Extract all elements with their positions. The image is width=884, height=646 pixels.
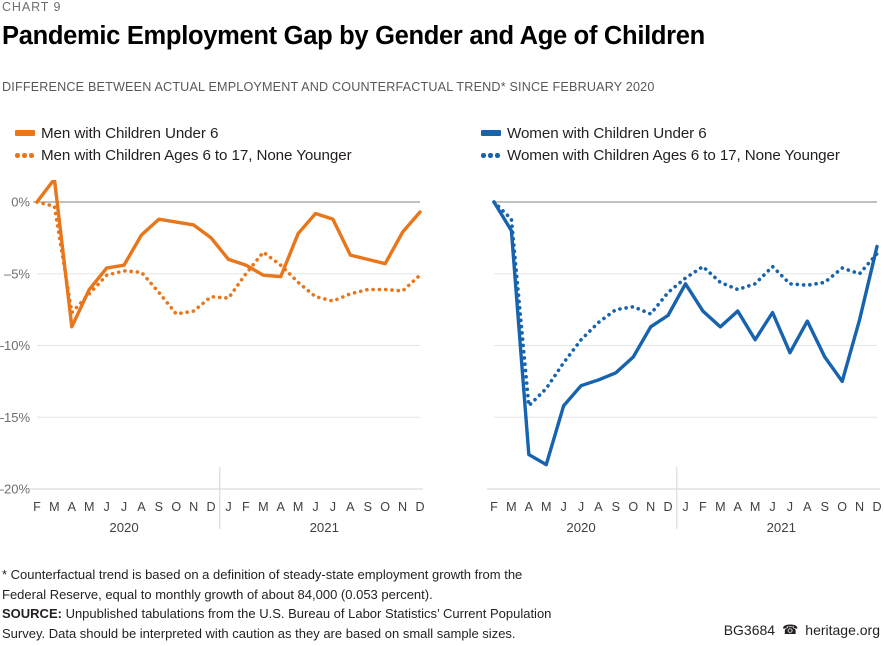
y-axis-tick-label: –5% (4, 266, 30, 281)
x-axis-year-label: 2021 (310, 520, 339, 535)
legend-label: Men with Children Under 6 (41, 125, 218, 142)
heritage-logo-icon: ☎ (782, 622, 798, 638)
y-axis-tick-label: –10% (0, 338, 30, 353)
x-axis-tick-label: J (225, 500, 231, 514)
x-axis-year-label: 2020 (566, 520, 595, 535)
x-axis-tick-label: J (769, 500, 775, 514)
chart-subtitle: DIFFERENCE BETWEEN ACTUAL EMPLOYMENT AND… (2, 80, 655, 94)
credit-block: BG3684 ☎ heritage.org (724, 622, 880, 638)
x-axis-tick-label: S (612, 500, 620, 514)
x-axis-tick-label: M (293, 500, 304, 514)
x-axis-tick-label: D (664, 500, 673, 514)
x-axis-tick-label: M (258, 500, 269, 514)
x-axis-tick-label: O (628, 500, 638, 514)
y-axis-tick-label: –20% (0, 482, 30, 497)
x-axis-tick-label: A (137, 500, 146, 514)
x-axis-tick-label: J (312, 500, 318, 514)
legend-swatch-dotted-orange-icon (14, 144, 36, 166)
series-line (494, 202, 877, 465)
x-axis-tick-label: N (398, 500, 407, 514)
source-text: Unpublished tabulations from the U.S. Bu… (62, 606, 551, 621)
x-axis-tick-label: A (734, 500, 743, 514)
x-axis-tick-label: F (242, 500, 250, 514)
footnote-line-1: * Counterfactual trend is based on a def… (2, 565, 642, 585)
x-axis-year-label: 2021 (767, 520, 796, 535)
legend-column-men: Men with Children Under 6 Men with Child… (14, 122, 444, 166)
x-axis-tick-label: S (155, 500, 163, 514)
legend-item-men-under-6: Men with Children Under 6 (14, 122, 444, 144)
footnotes: * Counterfactual trend is based on a def… (2, 565, 642, 643)
series-line (494, 202, 877, 406)
x-axis-year-label: 2020 (109, 520, 138, 535)
y-axis-tick-label: –15% (0, 410, 30, 425)
x-axis-tick-label: M (541, 500, 552, 514)
x-axis-tick-label: O (380, 500, 390, 514)
x-axis-tick-label: O (171, 500, 181, 514)
x-axis-tick-label: A (68, 500, 77, 514)
x-axis-tick-label: A (594, 500, 603, 514)
legend-item-women-6-to-17: Women with Children Ages 6 to 17, None Y… (480, 144, 884, 166)
x-axis-tick-label: F (699, 500, 707, 514)
y-axis-tick-label: 0% (11, 195, 30, 210)
x-axis-tick-label: O (837, 500, 847, 514)
x-axis-tick-label: A (525, 500, 534, 514)
x-axis-tick-label: A (803, 500, 812, 514)
legend-swatch-solid-blue-icon (480, 122, 502, 144)
x-axis-tick-label: S (821, 500, 829, 514)
x-axis-tick-label: D (207, 500, 216, 514)
legend-item-women-under-6: Women with Children Under 6 (480, 122, 884, 144)
x-axis-tick-label: J (787, 500, 793, 514)
x-axis-tick-label: S (364, 500, 372, 514)
legend-column-women: Women with Children Under 6 Women with C… (480, 122, 884, 166)
x-axis-tick-label: J (682, 500, 688, 514)
credit-site: heritage.org (805, 622, 880, 638)
legend-label: Men with Children Ages 6 to 17, None You… (41, 147, 352, 164)
x-axis-tick-label: D (872, 500, 881, 514)
x-axis-tick-label: M (49, 500, 60, 514)
x-axis-tick-label: N (189, 500, 198, 514)
x-axis-tick-label: J (103, 500, 109, 514)
legend-swatch-solid-orange-icon (14, 122, 36, 144)
legend-item-men-6-to-17: Men with Children Ages 6 to 17, None You… (14, 144, 444, 166)
x-axis-tick-label: A (277, 500, 286, 514)
footnote-line-4: Survey. Data should be interpreted with … (2, 624, 642, 644)
x-axis-tick-label: M (750, 500, 761, 514)
legend-label: Women with Children Under 6 (507, 125, 707, 142)
source-label: SOURCE: (2, 606, 62, 621)
x-axis-tick-label: J (330, 500, 336, 514)
chart-svg: 0%–5%–10%–15%–20%FMAMJJASONDJFMAMJJASOND… (0, 180, 884, 540)
x-axis-tick-label: M (506, 500, 517, 514)
x-axis-tick-label: N (855, 500, 864, 514)
x-axis-tick-label: N (646, 500, 655, 514)
chart-page: CHART 9 Pandemic Employment Gap by Gende… (0, 0, 884, 646)
x-axis-tick-label: D (415, 500, 424, 514)
footnote-line-2: Federal Reserve, equal to monthly growth… (2, 585, 642, 605)
legend-swatch-dotted-blue-icon (480, 144, 502, 166)
x-axis-tick-label: F (490, 500, 498, 514)
x-axis-tick-label: M (84, 500, 95, 514)
chart-kicker: CHART 9 (2, 0, 61, 14)
chart-plot-area: 0%–5%–10%–15%–20%FMAMJJASONDJFMAMJJASOND… (0, 180, 884, 540)
x-axis-tick-label: J (560, 500, 566, 514)
x-axis-tick-label: J (578, 500, 584, 514)
chart-legend: Men with Children Under 6 Men with Child… (14, 122, 874, 166)
page-title: Pandemic Employment Gap by Gender and Ag… (2, 22, 705, 51)
legend-label: Women with Children Ages 6 to 17, None Y… (507, 147, 840, 164)
x-axis-tick-label: F (33, 500, 41, 514)
footnote-source-line: SOURCE: Unpublished tabulations from the… (2, 604, 642, 624)
credit-id: BG3684 (724, 622, 775, 638)
x-axis-tick-label: J (121, 500, 127, 514)
x-axis-tick-label: M (715, 500, 726, 514)
x-axis-tick-label: A (346, 500, 355, 514)
